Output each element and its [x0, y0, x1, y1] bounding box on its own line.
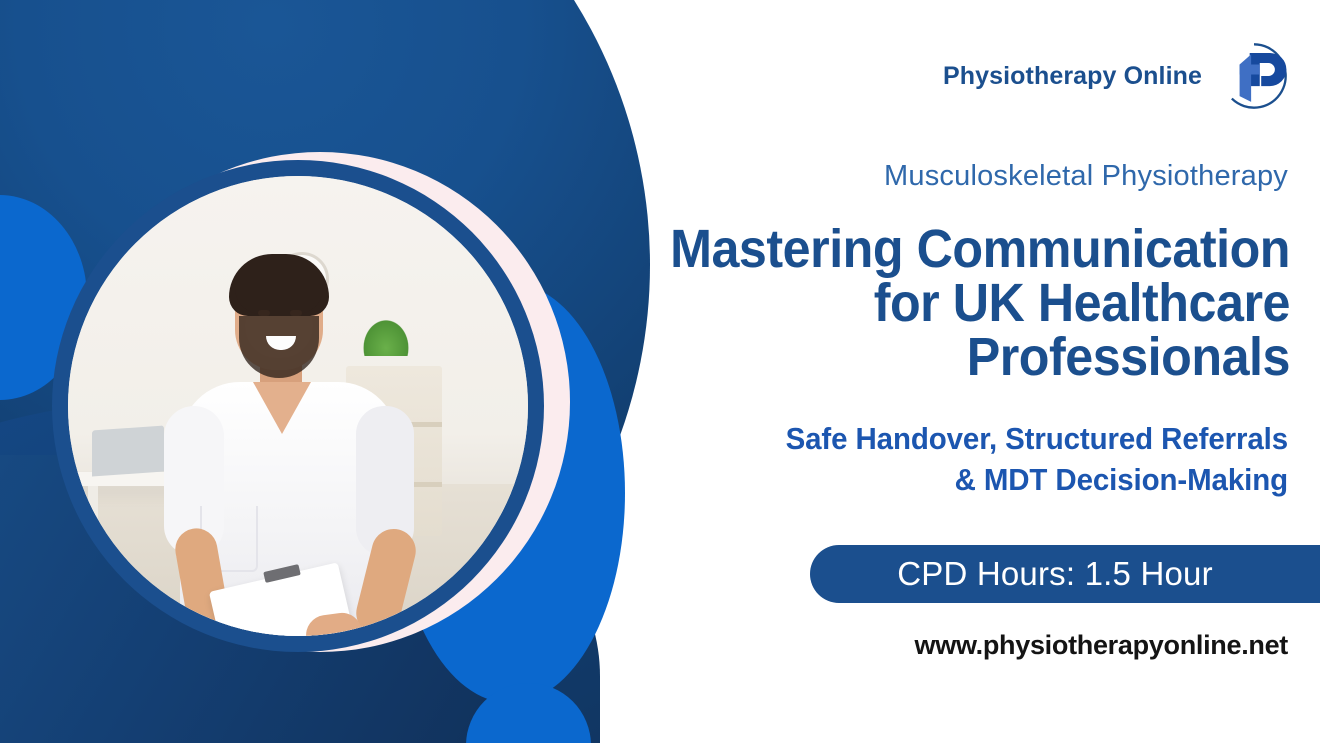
person-eye-right [290, 310, 302, 316]
course-title: Mastering Communication for UK Healthcar… [620, 222, 1290, 384]
course-subtitle-line-1: Safe Handover, Structured Referrals [623, 418, 1288, 459]
laptop [92, 425, 164, 476]
promo-poster: Physiotherapy Online Musculoskeletal Phy… [0, 0, 1320, 743]
photo-scene [68, 176, 528, 636]
course-title-line-2: for UK Healthcare [620, 276, 1290, 330]
course-title-line-1: Mastering Communication [620, 222, 1290, 276]
physiotherapist-photo [68, 176, 528, 636]
person-eye-left [258, 310, 270, 316]
brand-header: Physiotherapy Online [943, 40, 1290, 112]
physiotherapy-p-circle-logo-icon [1218, 40, 1290, 112]
brand-name: Physiotherapy Online [943, 62, 1202, 91]
course-title-line-3: Professionals [620, 330, 1290, 384]
content-column: Physiotherapy Online Musculoskeletal Phy… [560, 0, 1320, 743]
course-subtitle-line-2: & MDT Decision-Making [623, 459, 1288, 500]
potted-plant [360, 316, 412, 356]
desk-leg [88, 486, 98, 578]
website-url[interactable]: www.physiotherapyonline.net [915, 630, 1288, 661]
course-category: Musculoskeletal Physiotherapy [884, 160, 1288, 193]
cpd-hours-text: CPD Hours: 1.5 Hour [897, 555, 1213, 593]
cpd-hours-badge: CPD Hours: 1.5 Hour [810, 545, 1320, 603]
course-subtitle: Safe Handover, Structured Referrals & MD… [623, 418, 1288, 500]
